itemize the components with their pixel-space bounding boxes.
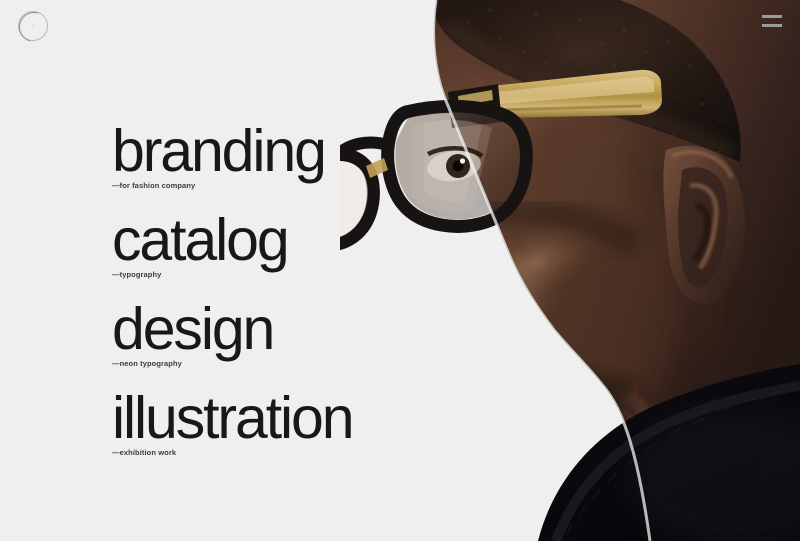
page-stage: branding —for fashion company catalog —t…: [0, 0, 800, 541]
circle-outline-icon: [18, 11, 48, 41]
nav-item-branding[interactable]: branding —for fashion company: [112, 120, 412, 191]
site-logo[interactable]: [18, 11, 48, 41]
nav-item-design[interactable]: design —neon typography: [112, 298, 412, 369]
nav-item-catalog[interactable]: catalog —typography: [112, 209, 412, 280]
circle-arc-icon: [14, 7, 55, 48]
nav-title-branding[interactable]: branding: [112, 120, 412, 182]
nav-item-illustration[interactable]: illustration —exhibition work: [112, 387, 412, 458]
hamburger-menu-button[interactable]: [762, 15, 782, 27]
nav-title-illustration[interactable]: illustration: [112, 387, 412, 449]
hamburger-bar-bottom: [762, 24, 782, 27]
hamburger-bar-top: [762, 15, 782, 18]
primary-nav: branding —for fashion company catalog —t…: [112, 120, 412, 458]
nav-title-catalog[interactable]: catalog: [112, 209, 412, 271]
nav-title-design[interactable]: design: [112, 298, 412, 360]
